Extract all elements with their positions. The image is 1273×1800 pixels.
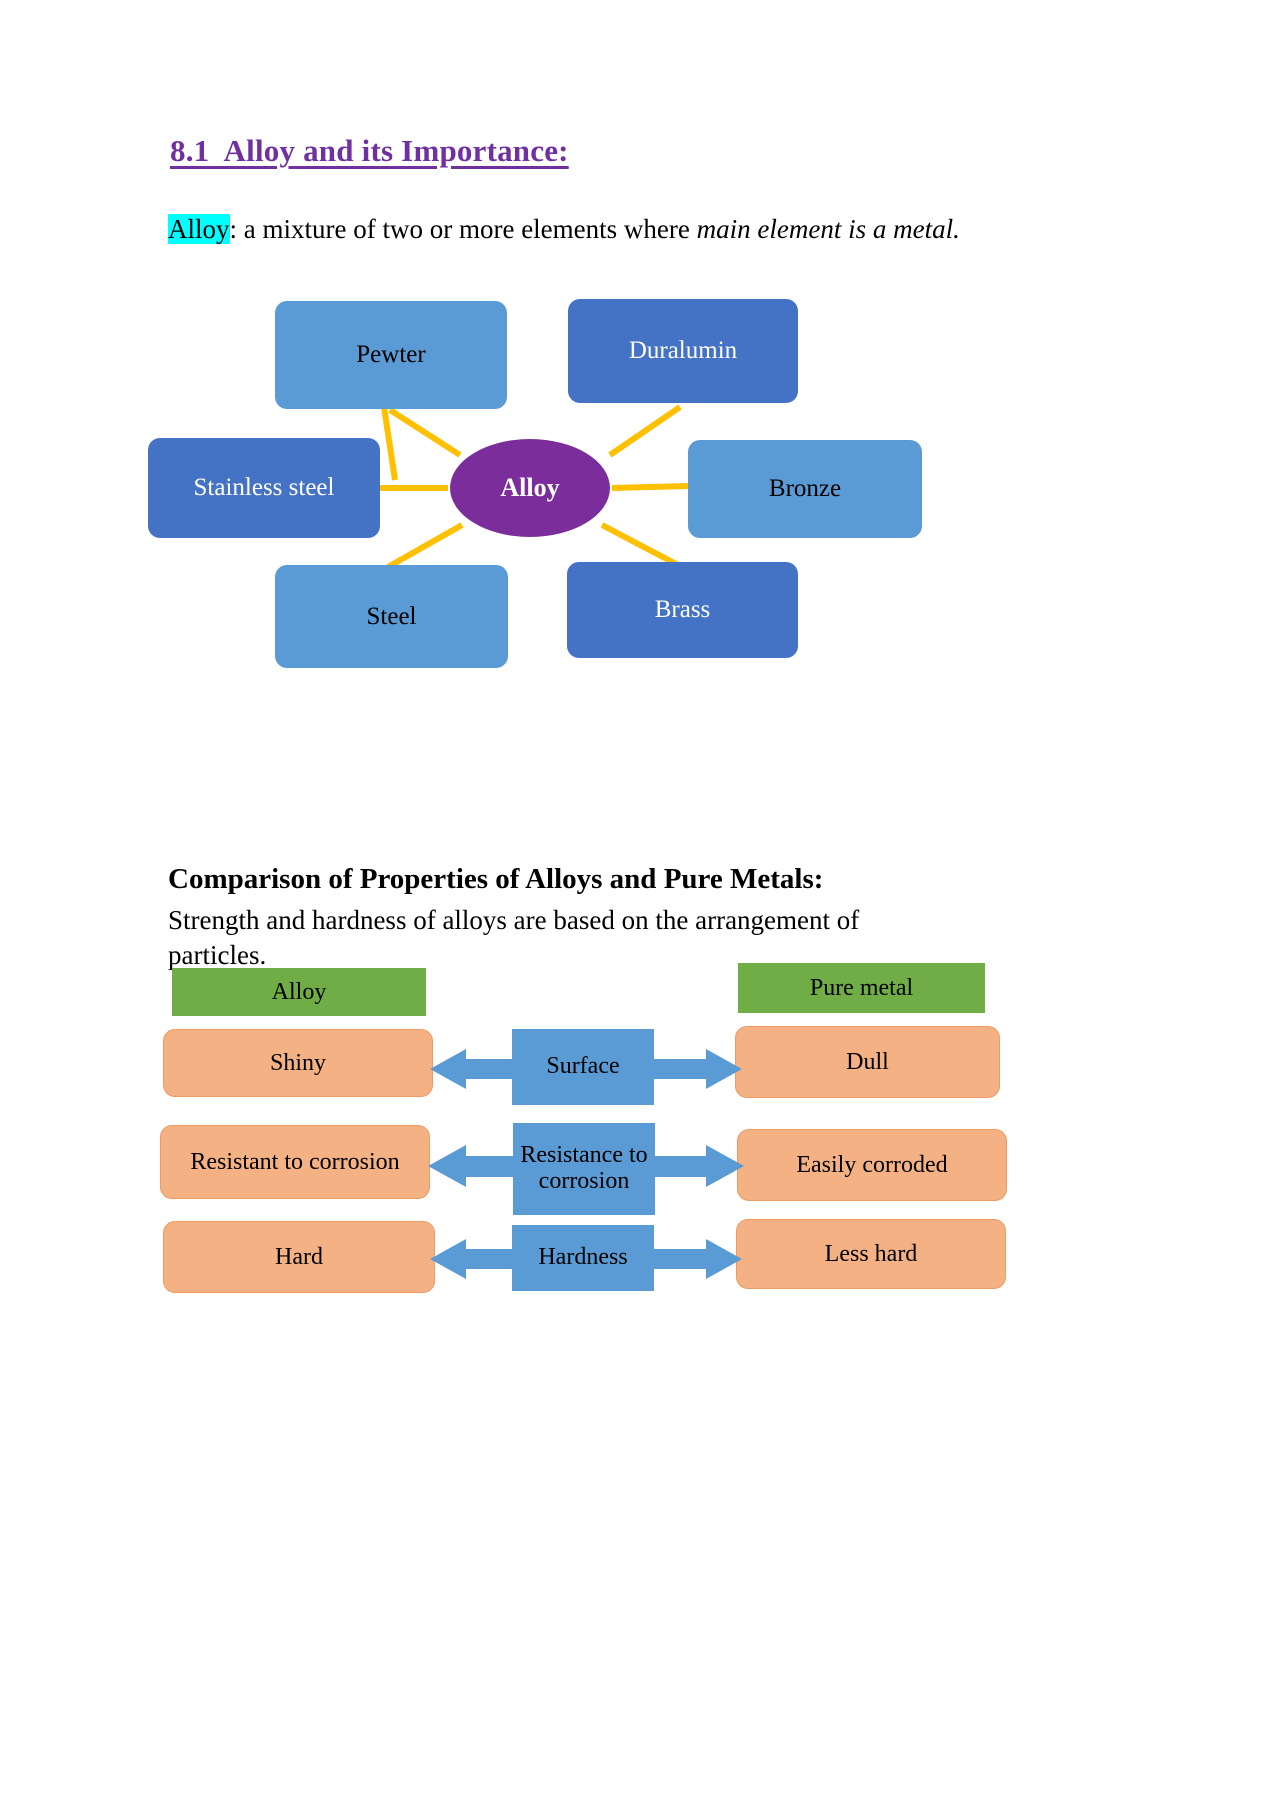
comparison-intro-text: Strength and hardness of alloys are base… — [168, 903, 958, 972]
property-box-pure-metal-surface[interactable]: Dull — [735, 1026, 1000, 1098]
property-value: Easily corroded — [796, 1152, 947, 1179]
property-label-resistance-to-corrosion[interactable]: Resistance to corrosion — [513, 1123, 655, 1215]
property-name: Surface — [546, 1054, 619, 1080]
mindmap-node-label: Brass — [655, 596, 711, 624]
property-box-alloy-corrosion[interactable]: Resistant to corrosion — [160, 1125, 430, 1199]
property-value: Dull — [846, 1049, 889, 1076]
property-name: Hardness — [538, 1245, 627, 1271]
property-box-pure-metal-corrosion[interactable]: Easily corroded — [737, 1129, 1007, 1201]
property-box-alloy-hardness[interactable]: Hard — [163, 1221, 435, 1293]
column-header-pure-metal: Pure metal — [738, 963, 985, 1013]
property-name: Resistance to corrosion — [513, 1143, 655, 1195]
mindmap-node-brass[interactable]: Brass — [567, 562, 798, 658]
mindmap-center-label: Alloy — [500, 473, 559, 503]
property-label-hardness[interactable]: Hardness — [512, 1225, 654, 1291]
mindmap-node-label: Bronze — [769, 475, 841, 503]
mindmap-node-pewter[interactable]: Pewter — [275, 301, 507, 409]
alloy-definition-italic: main element is a metal. — [697, 214, 960, 244]
mindmap-node-label: Steel — [367, 603, 417, 631]
column-header-alloy: Alloy — [172, 968, 426, 1016]
property-box-pure-metal-hardness[interactable]: Less hard — [736, 1219, 1006, 1289]
property-value: Hard — [275, 1244, 323, 1271]
page-title: 8.1 Alloy and its Importance: — [170, 133, 569, 169]
mindmap-node-label: Stainless steel — [194, 474, 335, 502]
mindmap-node-steel[interactable]: Steel — [275, 565, 508, 668]
alloy-vs-pure-metal-diagram: Alloy Pure metal Shiny — [160, 963, 1010, 1303]
mindmap-node-label: Pewter — [356, 341, 425, 369]
mindmap-node-stainless-steel[interactable]: Stainless steel — [148, 438, 380, 538]
alloy-term-highlight: Alloy — [168, 214, 230, 244]
property-value: Resistant to corrosion — [190, 1149, 399, 1176]
property-box-alloy-surface[interactable]: Shiny — [163, 1029, 433, 1097]
document-page: 8.1 Alloy and its Importance: Alloy: a m… — [0, 0, 1273, 1800]
property-label-surface[interactable]: Surface — [512, 1029, 654, 1105]
column-header-label: Alloy — [272, 979, 327, 1006]
column-header-label: Pure metal — [810, 975, 913, 1002]
mindmap-node-bronze[interactable]: Bronze — [688, 440, 922, 538]
mindmap-center-node-alloy[interactable]: Alloy — [450, 439, 610, 537]
alloy-mindmap-diagram: Pewter Duralumin Stainless steel Bronze … — [140, 285, 960, 675]
alloy-definition-plain: : a mixture of two or more elements wher… — [230, 214, 697, 244]
property-value: Less hard — [825, 1241, 918, 1268]
alloy-definition-paragraph: Alloy: a mixture of two or more elements… — [168, 212, 968, 248]
property-value: Shiny — [270, 1050, 326, 1077]
mindmap-node-label: Duralumin — [629, 337, 737, 365]
mindmap-node-duralumin[interactable]: Duralumin — [568, 299, 798, 403]
comparison-section-heading: Comparison of Properties of Alloys and P… — [168, 863, 823, 896]
